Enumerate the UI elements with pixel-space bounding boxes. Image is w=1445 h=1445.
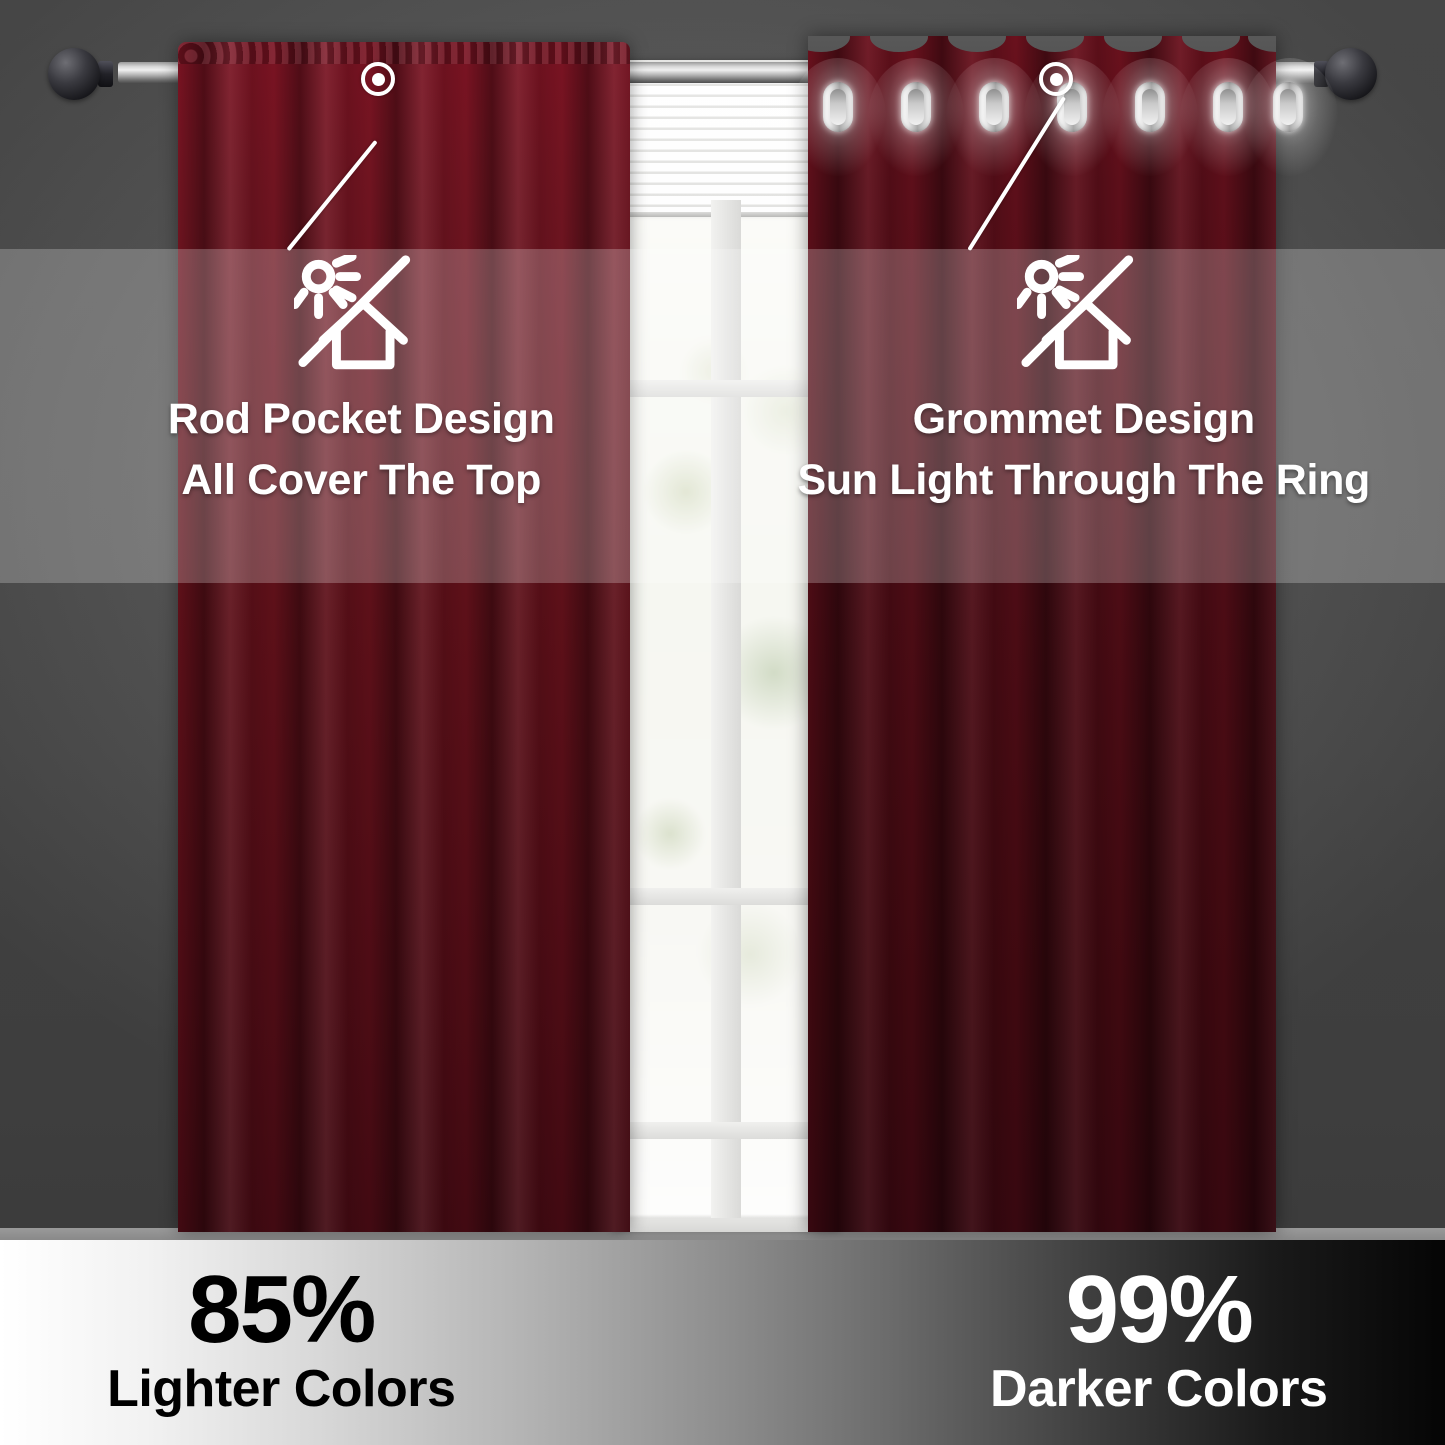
grommet-hole — [1280, 89, 1296, 125]
grommet-hole — [830, 89, 846, 125]
rod-pocket-ruffle — [178, 42, 630, 64]
feature-line-1: Rod Pocket Design — [168, 389, 555, 450]
feature-line-2: All Cover The Top — [168, 450, 555, 511]
window — [612, 60, 840, 1232]
stat-label: Lighter Colors — [107, 1361, 455, 1417]
grommet-hole — [908, 89, 924, 125]
stat-lighter-colors: 85% Lighter Colors — [0, 1240, 723, 1445]
grommet-ring — [1135, 82, 1165, 132]
feature-text-grommet: Grommet Design Sun Light Through The Rin… — [797, 389, 1370, 511]
grommet-ring — [1273, 82, 1303, 132]
grommet-hole — [986, 89, 1002, 125]
grommet-ring — [1057, 82, 1087, 132]
grommet-ring — [979, 82, 1009, 132]
stat-value: 99% — [1066, 1263, 1252, 1357]
feature-line-1: Grommet Design — [797, 389, 1370, 450]
feature-overlay-band: Rod Pocket Design All Cover The Top Grom… — [0, 249, 1445, 583]
grommet-ring — [823, 82, 853, 132]
sun-blocked-house-icon — [294, 255, 428, 373]
product-feature-image: Rod Pocket Design All Cover The Top Grom… — [0, 0, 1445, 1445]
grommet-ring-group — [808, 36, 1276, 236]
sun-blocked-house-icon — [1017, 255, 1151, 373]
curtain-panel-rod-pocket — [178, 42, 630, 1232]
ball-finial-right — [1325, 48, 1377, 100]
feature-line-2: Sun Light Through The Ring — [797, 450, 1370, 511]
window-mullion-horizontal-bottom — [626, 1122, 826, 1139]
blackout-stats-banner: 85% Lighter Colors 99% Darker Colors — [0, 1240, 1445, 1445]
stat-label: Darker Colors — [990, 1361, 1327, 1417]
grommet-hole — [1142, 89, 1158, 125]
ball-finial-left — [48, 48, 100, 100]
rod-neck-left — [98, 61, 113, 87]
grommet-hole — [1220, 89, 1236, 125]
grommet-ring — [901, 82, 931, 132]
grommet-ring — [1213, 82, 1243, 132]
feature-block-rod-pocket: Rod Pocket Design All Cover The Top — [0, 249, 723, 583]
roman-shade — [618, 64, 834, 214]
stat-darker-colors: 99% Darker Colors — [723, 1240, 1445, 1445]
grommet-hole — [1064, 89, 1080, 125]
stat-value: 85% — [188, 1263, 374, 1357]
feature-block-grommet: Grommet Design Sun Light Through The Rin… — [723, 249, 1445, 583]
window-mullion-horizontal-middle — [626, 888, 826, 905]
feature-text-rod-pocket: Rod Pocket Design All Cover The Top — [168, 389, 555, 511]
